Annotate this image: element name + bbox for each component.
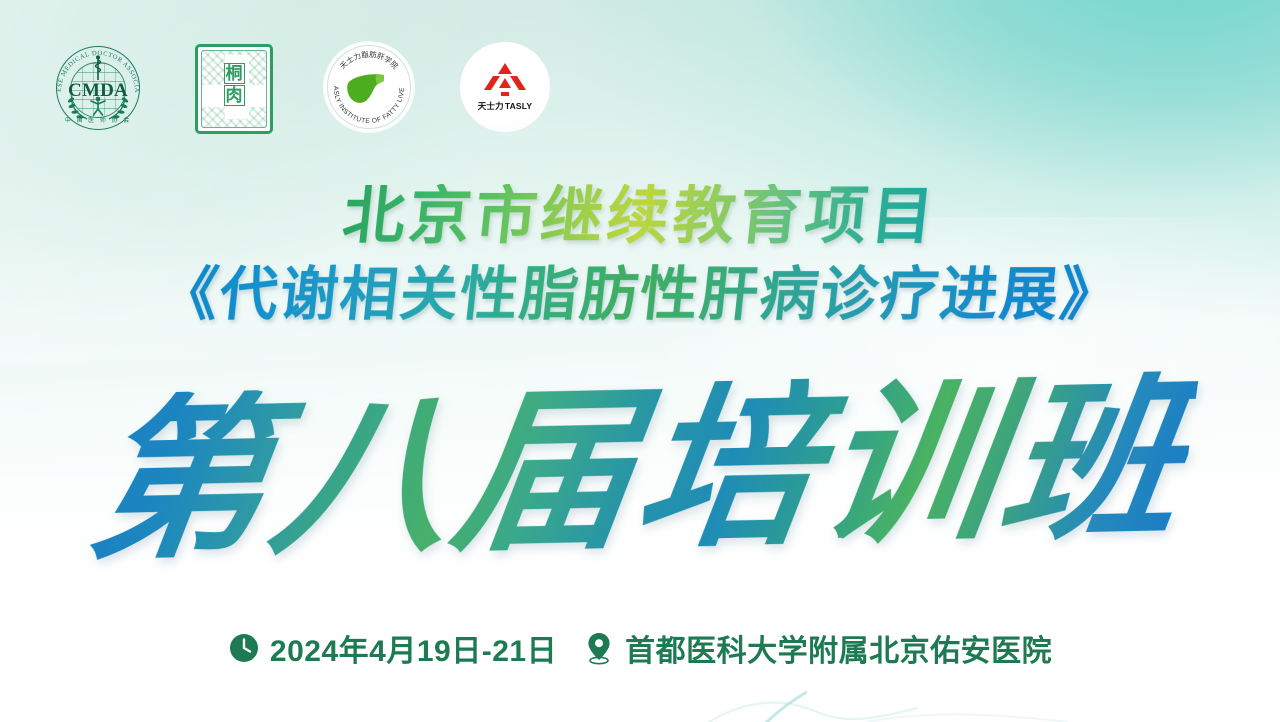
liver-organ-icon: [346, 72, 392, 106]
tongren-char-1: 桐: [224, 63, 245, 84]
tasly-logo: 天士力TASLY: [460, 42, 552, 134]
clock-icon: [228, 632, 260, 664]
tongren-characters: 桐 肉: [198, 63, 270, 106]
headline-block: 北京市继续教育项目 《代谢相关性脂肪性肝病诊疗进展》: [0, 184, 1280, 327]
organizer-logo-row: CHINESE MEDICAL DOCTOR ASSOCIATION CMDA: [52, 42, 552, 134]
cmda-chinese-name: 中 国 医 师 协 会: [52, 115, 144, 124]
liver-seal-circle: 天士力脂肪肝学院 TASLY INSTITUTE OF FATTY LIVER: [324, 42, 414, 132]
background-fade-bottom: [0, 419, 1280, 722]
tongren-seal-logo: 桐 肉: [188, 42, 280, 134]
event-venue-text: 首都医科大学附属北京佑安医院: [625, 626, 1052, 670]
tongren-seal-frame: 桐 肉: [195, 44, 273, 134]
tasly-wordmark: 天士力TASLY: [478, 100, 533, 112]
event-venue-item: 首都医科大学附属北京佑安医院: [583, 626, 1052, 670]
event-info-bar: 2024年4月19日-21日 首都医科大学附属北京佑安医院: [0, 626, 1280, 670]
tasly-wordmark-en: TASLY: [505, 101, 532, 111]
headline-line-1: 北京市继续教育项目: [339, 184, 940, 251]
cmda-logo: CHINESE MEDICAL DOCTOR ASSOCIATION CMDA: [52, 42, 144, 134]
svg-text:天士力脂肪肝学院: 天士力脂肪肝学院: [338, 50, 400, 71]
bottom-decorative-swoosh: [666, 670, 1229, 722]
tongren-char-2: 肉: [224, 85, 245, 106]
cmda-figure-icon: [86, 96, 110, 116]
tasly-triangle-mark-icon: [479, 63, 531, 97]
caduceus-icon: [89, 55, 107, 81]
event-date-text: 2024年4月19日-21日: [270, 626, 557, 670]
tasly-circle: 天士力TASLY: [460, 42, 550, 132]
calligraphy-title: 第八届培训班: [80, 371, 1200, 570]
headline-line-2: 《代谢相关性脂肪性肝病诊疗进展》: [157, 263, 1124, 327]
location-pin-icon: [583, 631, 615, 665]
event-date-item: 2024年4月19日-21日: [228, 626, 557, 670]
conference-poster: CHINESE MEDICAL DOCTOR ASSOCIATION CMDA: [0, 0, 1280, 722]
tasly-institute-of-fatty-liver-logo: 天士力脂肪肝学院 TASLY INSTITUTE OF FATTY LIVER: [324, 42, 416, 134]
tasly-wordmark-cn: 天士力: [478, 101, 504, 111]
calligraphy-title-block: 第八届培训班: [0, 382, 1280, 558]
